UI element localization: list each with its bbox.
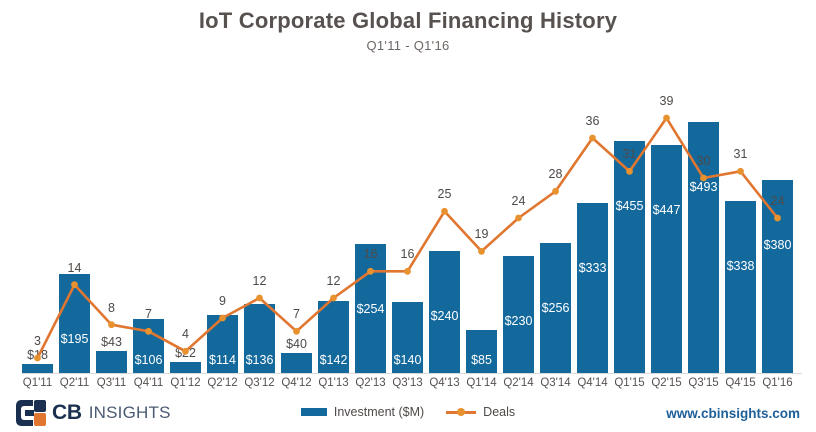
deals-value-label: 16 [386, 247, 430, 261]
deals-value-label: 4 [164, 327, 208, 341]
bar-value-label: $447 [645, 203, 689, 217]
bar-rect [614, 141, 645, 373]
deals-value-label: 12 [238, 274, 282, 288]
bar-value-label: $338 [719, 259, 763, 273]
bar-value-label: $18 [16, 348, 60, 362]
bar-Q115[interactable]: $455 [614, 62, 645, 373]
bar-rect [22, 364, 53, 373]
deals-value-label: 7 [275, 307, 319, 321]
legend-item-investment[interactable]: Investment ($M) [301, 405, 424, 419]
bar-value-label: $40 [275, 337, 319, 351]
deals-value-label: 7 [127, 307, 171, 321]
bar-rect [762, 180, 793, 373]
bar-value-label: $142 [312, 353, 356, 367]
bar-rect [281, 353, 312, 373]
deals-value-label: 19 [460, 227, 504, 241]
legend-label-investment: Investment ($M) [334, 405, 424, 419]
x-axis-label: Q1'16 [755, 377, 801, 389]
deals-value-label: 9 [201, 294, 245, 308]
bar-Q412[interactable]: $40 [281, 62, 312, 373]
x-axis-labels: Q1'11Q2'11Q3'11Q4'11Q1'12Q2'12Q3'12Q4'12… [0, 377, 816, 395]
bar-value-label: $240 [423, 309, 467, 323]
deals-value-label: 12 [312, 274, 356, 288]
x-axis-line [22, 373, 802, 374]
bar-value-label: $380 [756, 238, 800, 252]
bar-Q414[interactable]: $333 [577, 62, 608, 373]
plot-area: $18$195$43$106$22$114$136$40$142$254$140… [22, 62, 800, 373]
bar-value-label: $493 [682, 180, 726, 194]
bar-rect [170, 362, 201, 373]
deals-value-label: 25 [423, 187, 467, 201]
bar-rect [59, 274, 90, 373]
legend-line-swatch-icon [446, 407, 476, 417]
bar-Q314[interactable]: $256 [540, 62, 571, 373]
bar-Q315[interactable]: $493 [688, 62, 719, 373]
legend-bar-swatch-icon [301, 408, 327, 416]
bar-Q411[interactable]: $106 [133, 62, 164, 373]
bar-Q311[interactable]: $43 [96, 62, 127, 373]
chart-subtitle: Q1'11 - Q1'16 [0, 38, 816, 53]
deals-value-label: 39 [645, 94, 689, 108]
bar-value-label: $256 [534, 301, 578, 315]
bar-value-label: $333 [571, 261, 615, 275]
deals-value-label: 36 [571, 114, 615, 128]
deals-value-label: 24 [756, 194, 800, 208]
bar-rect [651, 145, 682, 373]
bar-rect [96, 351, 127, 373]
bar-rect [725, 201, 756, 373]
bar-Q214[interactable]: $230 [503, 62, 534, 373]
bar-Q213[interactable]: $254 [355, 62, 386, 373]
legend-label-deals: Deals [483, 405, 515, 419]
bar-Q415[interactable]: $338 [725, 62, 756, 373]
bar-value-label: $43 [90, 335, 134, 349]
bar-Q215[interactable]: $447 [651, 62, 682, 373]
deals-value-label: 31 [719, 147, 763, 161]
deals-value-label: 3 [16, 334, 60, 348]
bar-Q313[interactable]: $140 [392, 62, 423, 373]
page-title: IoT Corporate Global Financing History [0, 8, 816, 34]
website-link[interactable]: www.cbinsights.com [666, 406, 800, 421]
bar-Q211[interactable]: $195 [59, 62, 90, 373]
bar-Q413[interactable]: $240 [429, 62, 460, 373]
bar-value-label: $254 [349, 302, 393, 316]
bar-Q212[interactable]: $114 [207, 62, 238, 373]
bar-Q113[interactable]: $142 [318, 62, 349, 373]
bar-value-label: $85 [460, 353, 504, 367]
deals-value-label: 24 [497, 194, 541, 208]
bar-Q312[interactable]: $136 [244, 62, 275, 373]
deals-value-label: 14 [53, 261, 97, 275]
bar-value-label: $136 [238, 353, 282, 367]
bar-Q114[interactable]: $85 [466, 62, 497, 373]
bar-value-label: $230 [497, 314, 541, 328]
bar-Q111[interactable]: $18 [22, 62, 53, 373]
bar-value-label: $140 [386, 353, 430, 367]
bar-rect [577, 203, 608, 373]
chart-footer: CB INSIGHTS Investment ($M) Deals www.cb… [0, 396, 816, 432]
bar-Q116[interactable]: $380 [762, 62, 793, 373]
legend-item-deals[interactable]: Deals [446, 405, 515, 419]
chart-container: IoT Corporate Global Financing History Q… [0, 0, 816, 432]
deals-value-label: 31 [608, 147, 652, 161]
deals-value-label: 28 [534, 167, 578, 181]
